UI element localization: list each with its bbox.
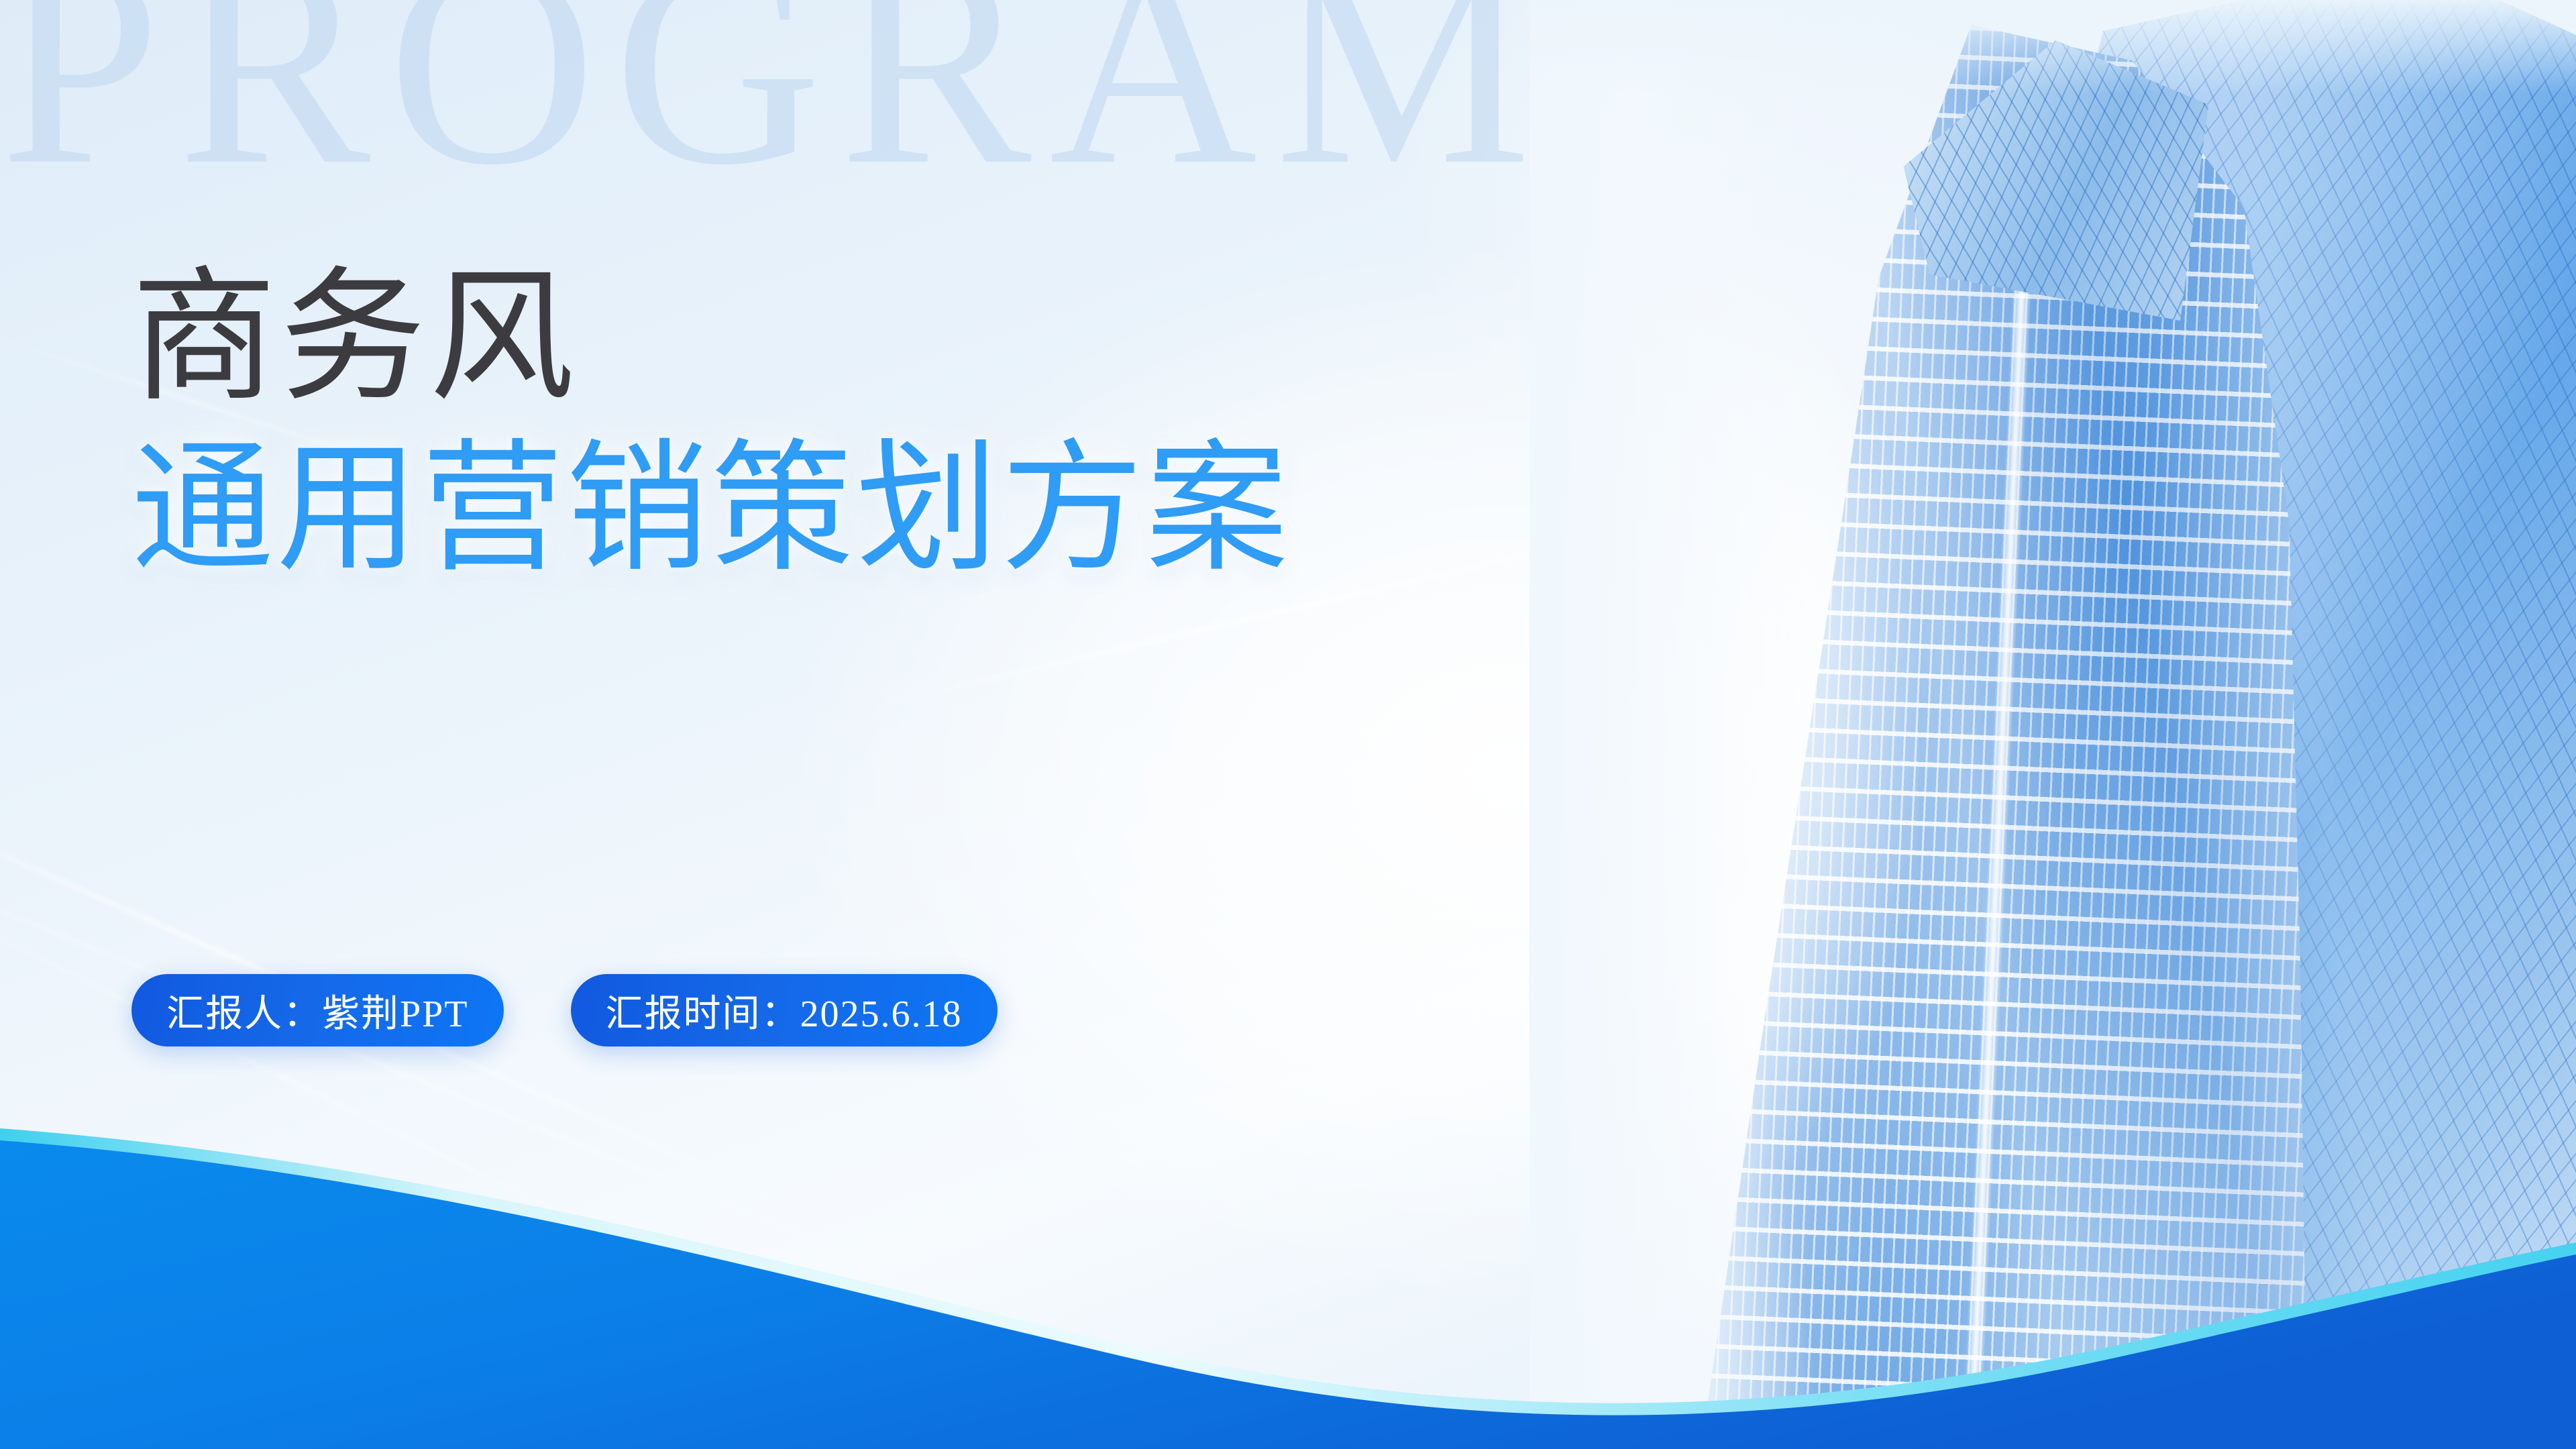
presenter-badge: 汇报人：紫荆PPT bbox=[131, 974, 504, 1046]
page-title: 商务风 bbox=[131, 255, 1291, 423]
light-streak-icon bbox=[0, 885, 707, 1285]
page-subtitle: 通用营销策划方案 bbox=[131, 423, 1291, 597]
light-streak-icon bbox=[0, 839, 883, 1269]
headline-block: 商务风 通用营销策划方案 bbox=[131, 255, 1291, 596]
presentation-slide: PROGRAM 商务风 通用营销策划方案 汇报人：紫荆PPT 汇报时间：2025… bbox=[0, 0, 2576, 1449]
meta-badges-row: 汇报人：紫荆PPT 汇报时间：2025.6.18 bbox=[131, 974, 998, 1046]
date-badge: 汇报时间：2025.6.18 bbox=[571, 974, 998, 1046]
skyscraper-photo bbox=[1529, 0, 2576, 1449]
